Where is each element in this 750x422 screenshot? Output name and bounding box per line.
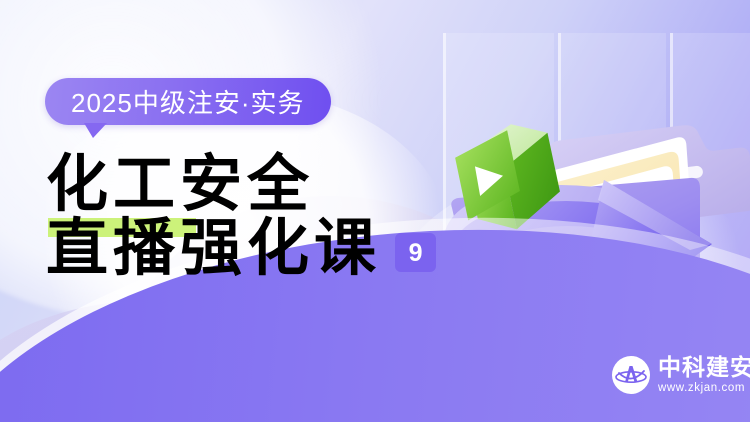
title-line-2-wrapper: 直播强化课 9 [46,216,436,280]
title-line-1-wrapper: 化工安全 [46,152,436,216]
brand-url: www.zkjan.com [658,383,750,395]
title-line-2: 直播强化课 [46,216,381,280]
brand-logo: 中科建安 www.zkjan.com [612,356,750,395]
brand-text: 中科建安 www.zkjan.com [658,356,750,395]
title-block: 化工安全 直播强化课 9 [46,152,436,280]
title-line-1: 化工安全 [46,147,314,220]
badge-tail-icon [84,123,107,138]
zhongke-jianan-logo-icon [612,356,650,394]
course-category-label: 2025中级注安·实务 [71,83,305,120]
course-category-badge: 2025中级注安·实务 [45,78,331,125]
course-poster: 2025中级注安·实务 化工安全 直播强化课 9 中科建安 www.zkjan.… [0,0,750,422]
episode-number-badge: 9 [395,233,436,272]
brand-name: 中科建安 [658,356,750,379]
